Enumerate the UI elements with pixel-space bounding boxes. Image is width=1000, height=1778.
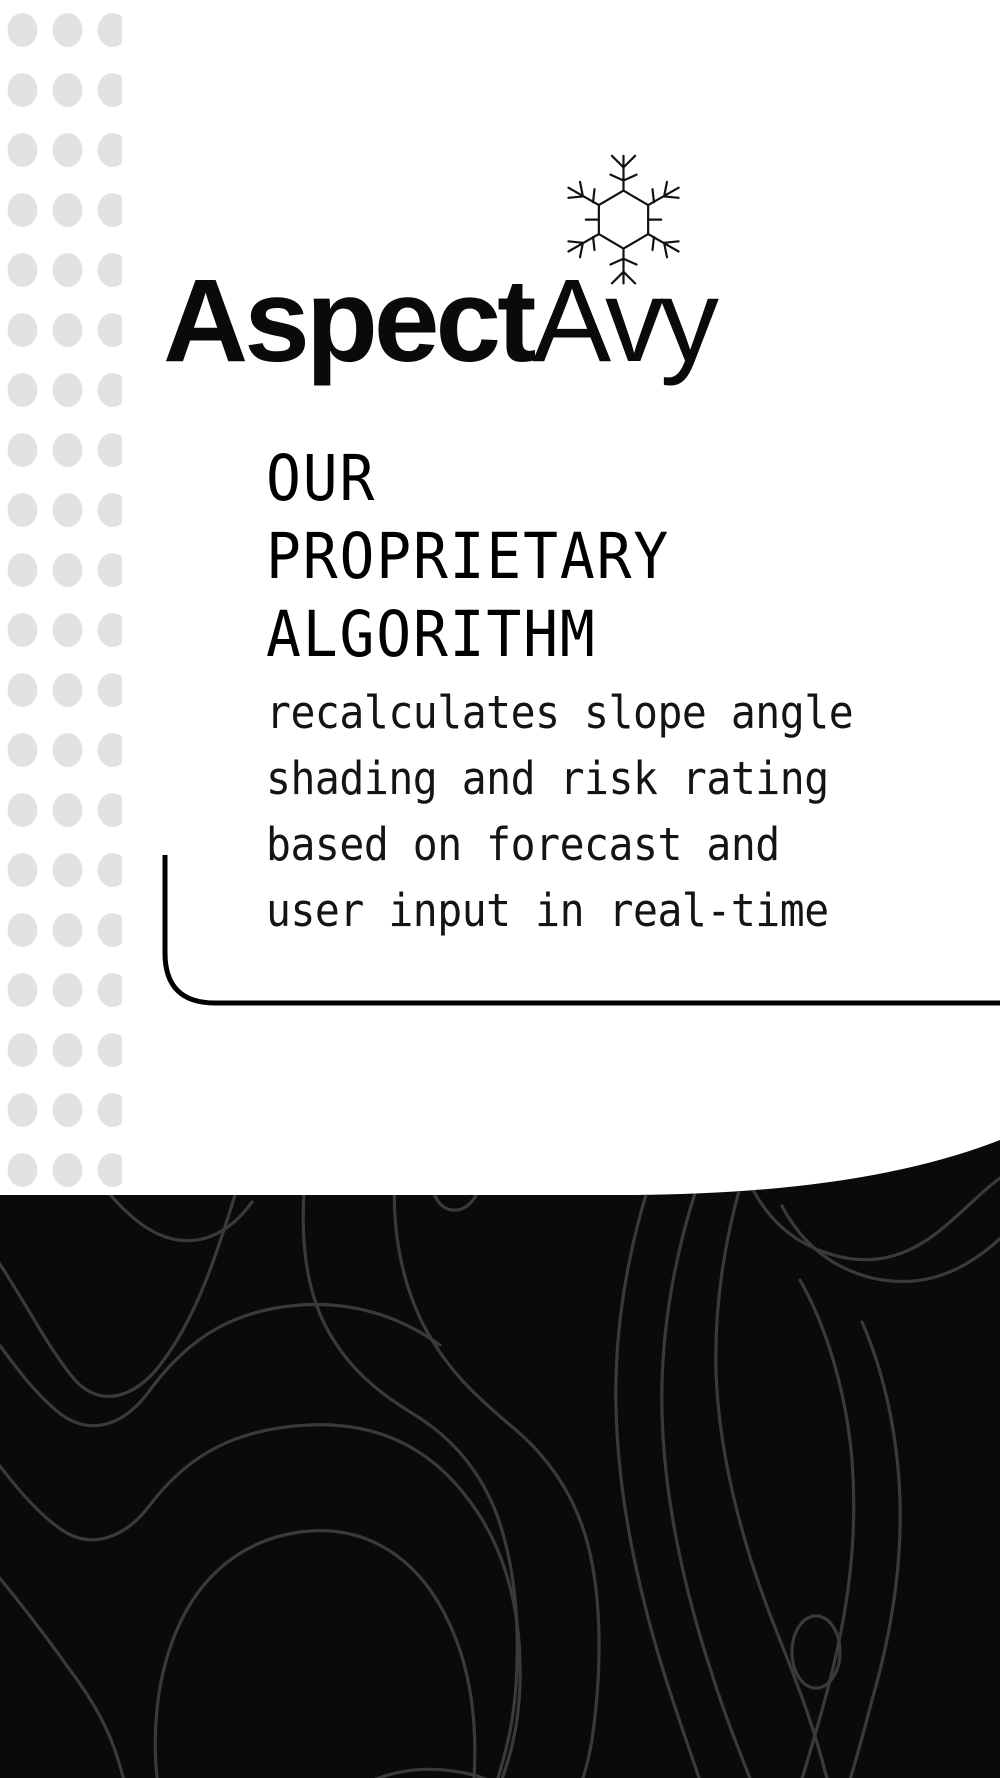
brand-wordmark: AspectAvy	[163, 262, 715, 380]
poster-canvas: AspectAvy OUR PROPRIETARY ALGORITHM reca…	[0, 0, 1000, 1778]
headline: OUR PROPRIETARY ALGORITHM	[266, 440, 906, 674]
dot-grid-pattern	[0, 0, 122, 1230]
body-line-4: user input in real-time	[266, 878, 855, 944]
copy-block: OUR PROPRIETARY ALGORITHM recalculates s…	[266, 440, 906, 944]
headline-line-3: ALGORITHM	[266, 596, 855, 674]
body-line-3: based on forecast and	[266, 812, 855, 878]
wordmark-secondary: Avy	[532, 255, 715, 387]
topographic-contour-panel	[0, 1140, 1000, 1778]
body-line-1: recalculates slope angle	[266, 680, 855, 746]
headline-line-2: PROPRIETARY	[266, 518, 855, 596]
wordmark-primary: Aspect	[163, 255, 532, 387]
brand-logo-lockup: AspectAvy	[163, 150, 763, 380]
body-copy: recalculates slope angle shading and ris…	[266, 680, 906, 944]
body-line-2: shading and risk rating	[266, 746, 855, 812]
headline-line-1: OUR	[266, 440, 855, 518]
